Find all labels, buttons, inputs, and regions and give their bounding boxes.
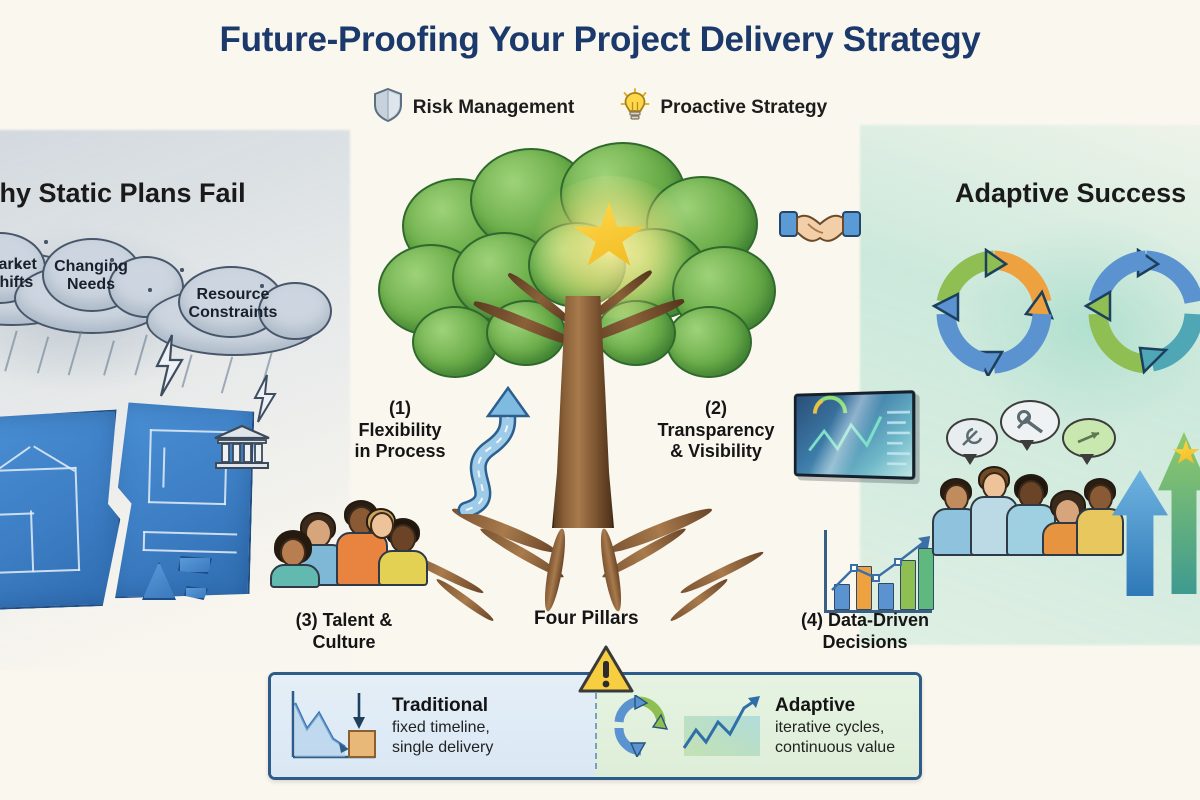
comparison-traditional: Traditional fixed timeline, single deliv… [271, 675, 595, 777]
right-panel-heading: Adaptive Success [955, 178, 1186, 209]
cloud-resource-constraints-label: Resource Constraints [152, 286, 314, 322]
shield-icon [373, 88, 403, 127]
pillar-4-label: (4) Data-Driven Decisions [786, 610, 944, 653]
pillar-2-label: (2) Transparency & Visibility [648, 398, 784, 463]
left-panel-heading: Why Static Plans Fail [0, 178, 246, 209]
comparison-sub-line: iterative cycles, [775, 718, 895, 738]
cycle-arrows-icon [930, 248, 1058, 376]
arrow-icon [1075, 428, 1103, 448]
speech-bubble-icon [946, 418, 998, 458]
comparison-title: Adaptive [775, 694, 895, 718]
comparison-sub-line: continuous value [775, 738, 895, 758]
blueprint-shard [178, 556, 212, 574]
speech-bubble-icon [1000, 400, 1060, 444]
comparison-sub-line: fixed timeline, [392, 718, 493, 738]
handshake-icon [778, 202, 862, 258]
cycle-arrows-icon [1082, 248, 1200, 376]
four-pillars-label: Four Pillars [534, 608, 639, 630]
trend-line-icon [818, 528, 936, 620]
pillar-3-label: (3) Talent & Culture [282, 610, 406, 653]
cycle-arrows-icon [611, 695, 669, 757]
comparison-sub-line: single delivery [392, 738, 493, 758]
badge-risk-management: Risk Management [373, 88, 575, 127]
bar-chart-icon [818, 528, 936, 620]
warning-triangle-icon [578, 644, 634, 694]
comparison-title: Traditional [392, 694, 493, 718]
infographic-canvas: Future-Proofing Your Project Delivery St… [0, 0, 1200, 800]
comparison-divider [595, 683, 597, 769]
bank-institution-icon [212, 424, 272, 470]
tool-icon [959, 427, 985, 449]
comparison-adaptive: Adaptive iterative cycles, continuous va… [595, 675, 919, 777]
rising-chart-icon [682, 694, 762, 758]
badge-proactive-strategy: Proactive Strategy [620, 88, 827, 127]
pillar-1-label: (1) Flexibility in Process [340, 398, 460, 463]
lightning-icon [250, 374, 280, 424]
declining-chart-icon [287, 687, 379, 765]
cloud-changing-needs-label: Changing Needs [22, 258, 160, 294]
lightning-icon [150, 334, 190, 398]
wrench-icon [1015, 410, 1045, 434]
dashboard-icon [794, 390, 916, 480]
badge-label: Proactive Strategy [660, 97, 827, 119]
badge-label: Risk Management [413, 97, 575, 119]
s-curve-arrow-icon [448, 386, 550, 514]
page-title: Future-Proofing Your Project Delivery St… [0, 20, 1200, 60]
lightbulb-icon [620, 88, 650, 127]
speech-bubble-icon [1062, 418, 1116, 458]
badge-row: Risk Management Proa [0, 88, 1200, 127]
